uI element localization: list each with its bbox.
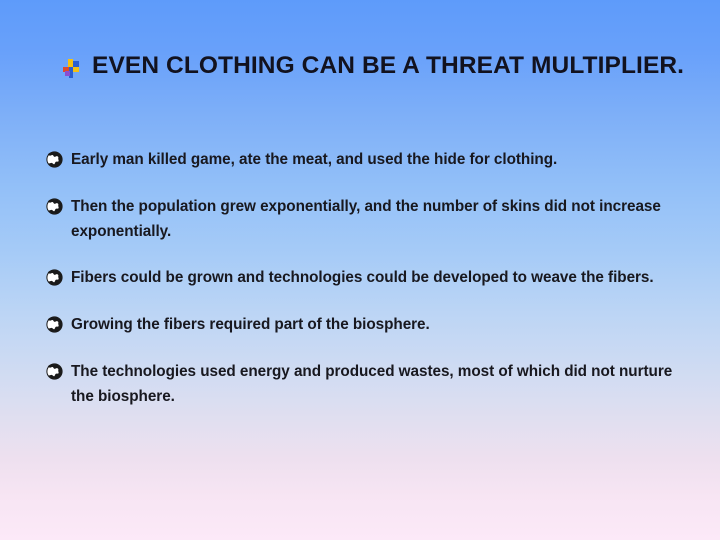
presentation-slide: EVEN CLOTHING CAN BE A THREAT MULTIPLIER… (0, 0, 720, 540)
globe-icon (46, 198, 63, 215)
globe-icon (46, 269, 63, 286)
slide-title-block: EVEN CLOTHING CAN BE A THREAT MULTIPLIER… (62, 52, 690, 80)
globe-icon (46, 316, 63, 333)
page-title: EVEN CLOTHING CAN BE A THREAT MULTIPLIER… (92, 52, 684, 80)
list-item-label: Fibers could be grown and technologies c… (71, 266, 654, 291)
list-item-label: The technologies used energy and produce… (71, 360, 696, 410)
globe-icon (46, 151, 63, 168)
list-item: Fibers could be grown and technologies c… (46, 266, 696, 291)
list-item: Growing the fibers required part of the … (46, 313, 696, 338)
slide-body-block: Early man killed game, ate the meat, and… (46, 148, 696, 409)
list-item: The technologies used energy and produce… (46, 360, 696, 410)
list-item-label: Growing the fibers required part of the … (71, 313, 430, 338)
list-item: Early man killed game, ate the meat, and… (46, 148, 696, 173)
list-item-label: Then the population grew exponentially, … (71, 195, 696, 245)
list-item-label: Early man killed game, ate the meat, and… (71, 148, 557, 173)
globe-icon (46, 363, 63, 380)
pinwheel-icon (62, 58, 80, 80)
list-item: Then the population grew exponentially, … (46, 195, 696, 245)
